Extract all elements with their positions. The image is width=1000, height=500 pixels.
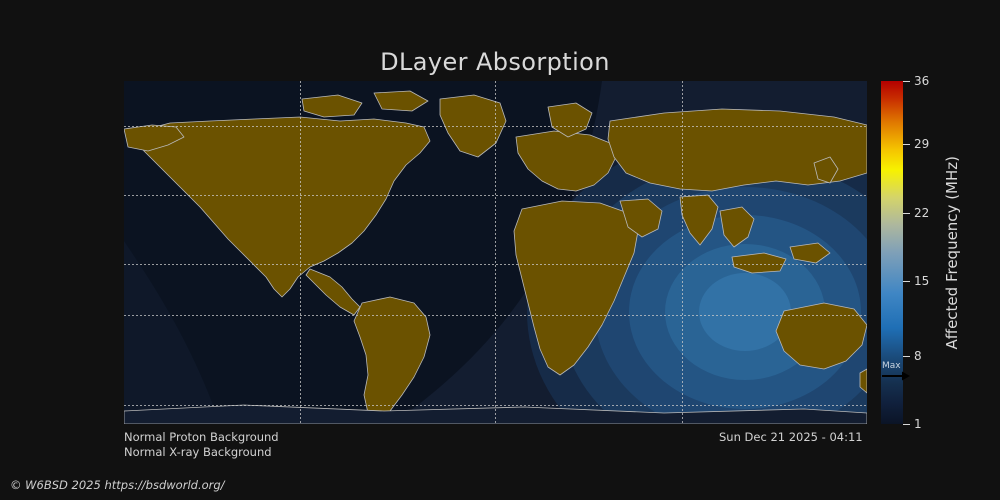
colorbar-axis-label-text: Affected Frequency (MHz) xyxy=(943,156,961,350)
timestamp: Sun Dec 21 2025 - 04:11 xyxy=(719,430,863,444)
colorbar-tick-mark xyxy=(903,81,910,82)
proton-background-status: Normal Proton Background xyxy=(124,430,279,444)
gridline-lon-90e xyxy=(682,81,683,424)
dlayer-absorption-page: DLayer Absorption xyxy=(0,0,1000,500)
colorbar-tick-label: 8 xyxy=(914,350,922,362)
max-arrow-icon xyxy=(882,371,910,381)
colorbar-tick-label: 1 xyxy=(914,418,922,430)
page-title: DLayer Absorption xyxy=(0,48,990,76)
colorbar-tick-label: 15 xyxy=(914,275,929,287)
colorbar-axis-label: Affected Frequency (MHz) xyxy=(941,81,963,424)
colorbar-tick-label: 22 xyxy=(914,207,929,219)
colorbar-tick-mark xyxy=(903,144,910,145)
colorbar-tick-mark xyxy=(903,424,910,425)
gridline-lon-0 xyxy=(495,81,496,424)
max-marker-label: Max xyxy=(882,362,912,371)
colorbar-tick-mark xyxy=(903,281,910,282)
max-marker: Max xyxy=(882,362,912,384)
colorbar-tick-mark xyxy=(903,356,910,357)
xray-background-status: Normal X-ray Background xyxy=(124,445,272,459)
colorbar-tick-mark xyxy=(903,213,910,214)
colorbar-tick-label: 36 xyxy=(914,75,929,87)
world-map[interactable] xyxy=(124,81,867,424)
colorbar-tick-label: 29 xyxy=(914,138,929,150)
gridline-lon-90w xyxy=(300,81,301,424)
copyright-notice: © W6BSD 2025 https://bsdworld.org/ xyxy=(10,478,225,492)
